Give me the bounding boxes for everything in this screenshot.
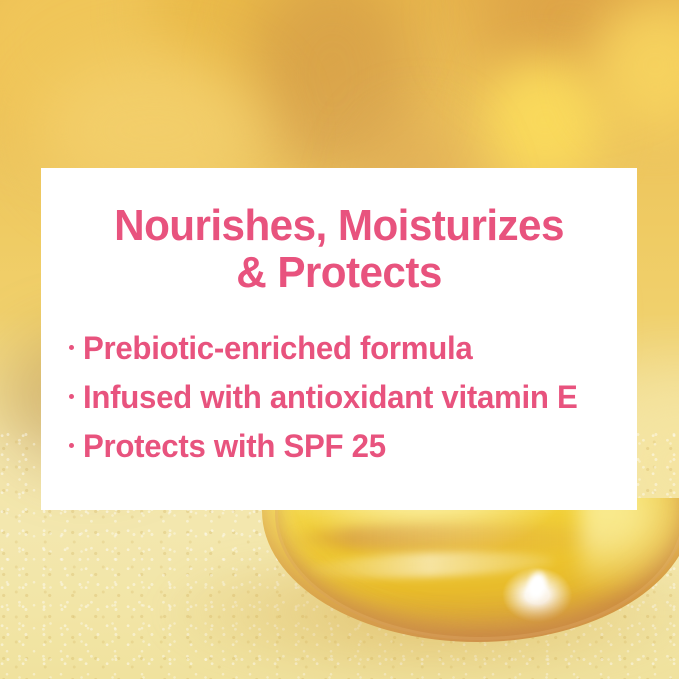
bullet-dot-icon <box>69 394 74 399</box>
card-headline: Nourishes, Moisturizes & Protects <box>53 168 625 296</box>
list-item: Prebiotic-enriched formula <box>69 324 637 373</box>
list-item-label: Infused with antioxidant vitamin E <box>83 373 578 422</box>
list-item-label: Protects with SPF 25 <box>83 422 386 471</box>
bullet-dot-icon <box>69 443 74 448</box>
list-item-label: Prebiotic-enriched formula <box>83 324 472 373</box>
marketing-graphic: Nourishes, Moisturizes & Protects Prebio… <box>0 0 679 679</box>
softgel-capsule <box>262 498 679 648</box>
capsule-edge-glow <box>580 498 679 593</box>
benefits-list: Prebiotic-enriched formula Infused with … <box>41 296 637 471</box>
list-item: Protects with SPF 25 <box>69 422 637 471</box>
bokeh-highlight <box>485 60 605 180</box>
benefits-card-inner: Nourishes, Moisturizes & Protects Prebio… <box>41 168 637 510</box>
capsule-body <box>262 498 679 642</box>
benefits-card: Nourishes, Moisturizes & Protects Prebio… <box>41 168 637 510</box>
bullet-dot-icon <box>69 345 74 350</box>
list-item: Infused with antioxidant vitamin E <box>69 373 637 422</box>
